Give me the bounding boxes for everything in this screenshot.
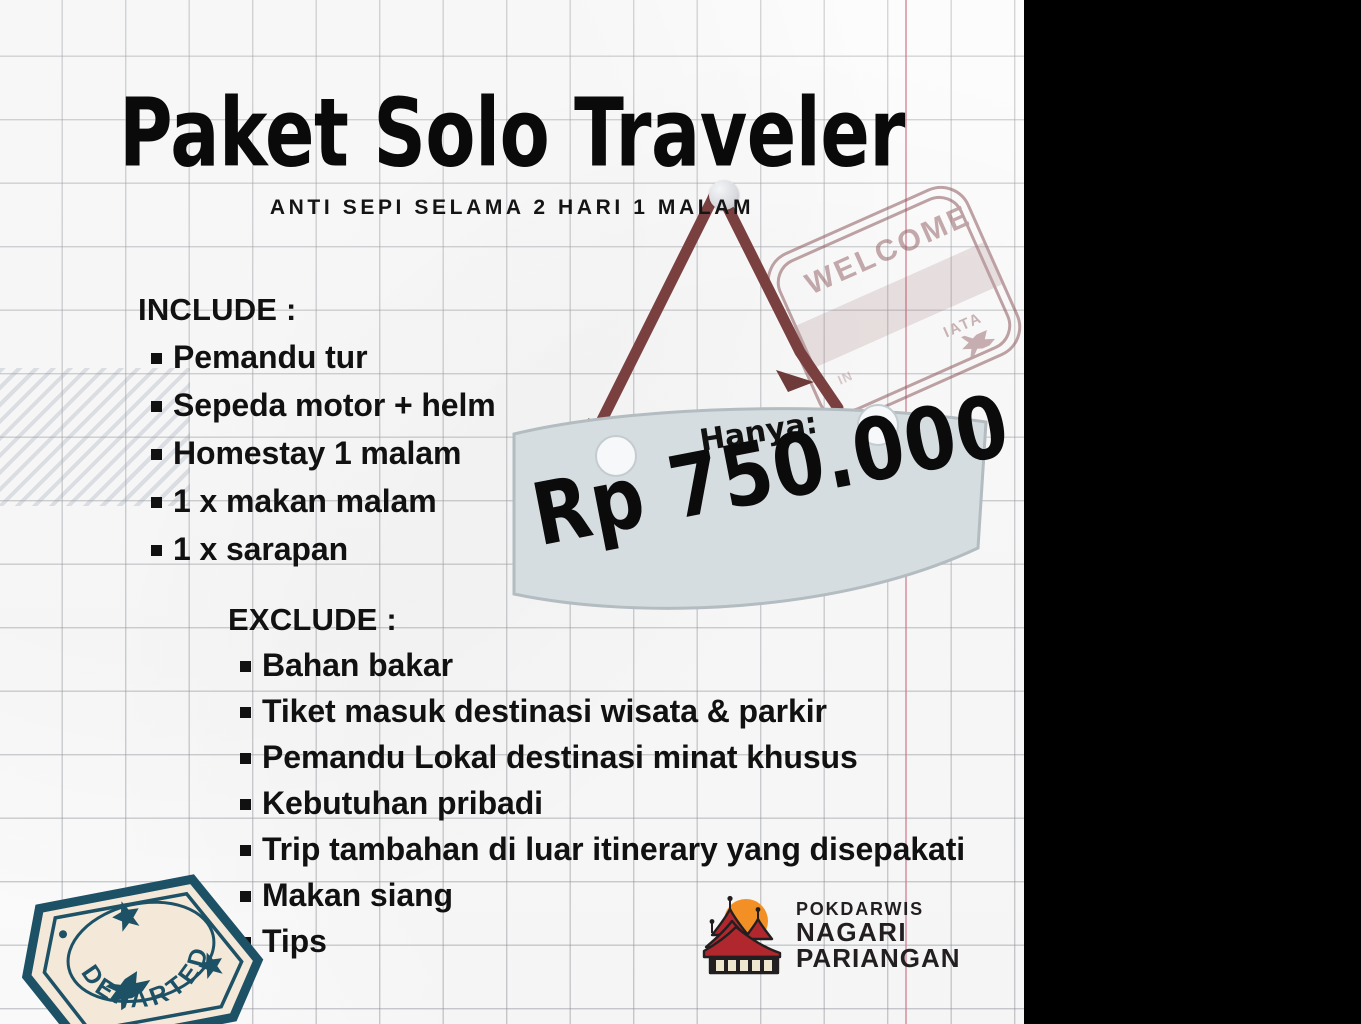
bullet-icon	[151, 449, 162, 460]
exclude-heading: EXCLUDE :	[228, 602, 965, 638]
include-item-label: 1 x makan malam	[173, 483, 437, 520]
bullet-icon	[240, 753, 251, 764]
poster-canvas: WELCOME IATA IN	[0, 0, 1024, 1024]
exclude-item-label: Tiket masuk destinasi wisata & parkir	[262, 693, 827, 730]
brand-line-3: PARIANGAN	[796, 945, 961, 972]
brand-logo: POKDARWIS NAGARI PARIANGAN	[700, 893, 966, 979]
rumah-gadang-icon	[700, 895, 786, 977]
include-item-label: 1 x sarapan	[173, 531, 348, 568]
bullet-icon	[151, 545, 162, 556]
brand-line-1: POKDARWIS	[796, 900, 961, 918]
list-item: 1 x sarapan	[138, 531, 496, 568]
list-item: Trip tambahan di luar itinerary yang dis…	[228, 831, 965, 868]
include-section: INCLUDE : Pemandu tur Sepeda motor + hel…	[138, 292, 496, 568]
bullet-icon	[240, 707, 251, 718]
list-item: Bahan bakar	[228, 647, 965, 684]
include-heading: INCLUDE :	[138, 292, 496, 328]
list-item: Homestay 1 malam	[138, 435, 496, 472]
exclude-item-label: Makan siang	[262, 877, 453, 914]
include-item-label: Pemandu tur	[173, 339, 367, 376]
list-item: Kebutuhan pribadi	[228, 785, 965, 822]
list-item: 1 x makan malam	[138, 483, 496, 520]
page-title: Paket Solo Traveler	[20, 86, 1003, 180]
departed-stamp: DEPARTED	[14, 848, 264, 1024]
list-item: Sepeda motor + helm	[138, 387, 496, 424]
include-item-label: Sepeda motor + helm	[173, 387, 496, 424]
exclude-item-label: Bahan bakar	[262, 647, 453, 684]
exclude-item-label: Pemandu Lokal destinasi minat khusus	[262, 739, 858, 776]
bullet-icon	[151, 497, 162, 508]
bullet-icon	[240, 661, 251, 672]
list-item: Pemandu tur	[138, 339, 496, 376]
include-item-label: Homestay 1 malam	[173, 435, 461, 472]
exclude-item-label: Kebutuhan pribadi	[262, 785, 543, 822]
bullet-icon	[240, 799, 251, 810]
screenshot-stage: WELCOME IATA IN	[0, 0, 1361, 1024]
bullet-icon	[151, 353, 162, 364]
list-item: Pemandu Lokal destinasi minat khusus	[228, 739, 965, 776]
brand-wordmark: POKDARWIS NAGARI PARIANGAN	[796, 900, 961, 971]
exclude-item-label: Trip tambahan di luar itinerary yang dis…	[262, 831, 965, 868]
page-subtitle: ANTI SEPI SELAMA 2 HARI 1 MALAM	[0, 196, 1024, 220]
brand-line-2: NAGARI	[796, 919, 961, 946]
list-item: Tiket masuk destinasi wisata & parkir	[228, 693, 965, 730]
exclude-item-label: Tips	[262, 923, 327, 960]
bullet-icon	[151, 401, 162, 412]
